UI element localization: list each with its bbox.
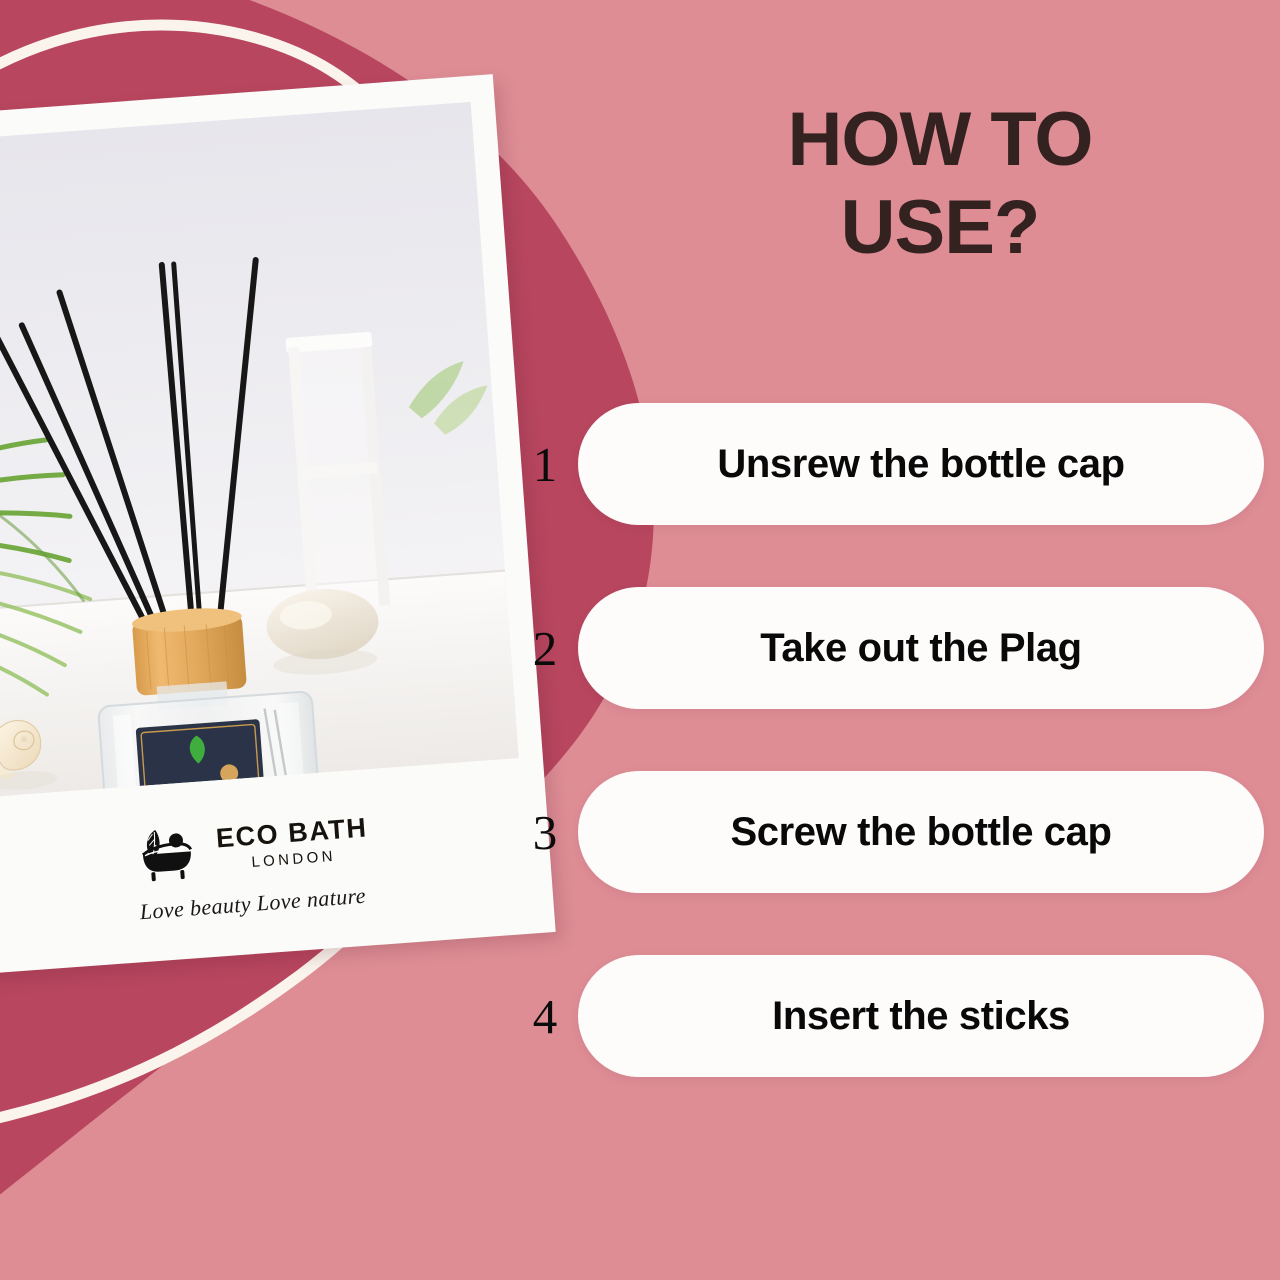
step-label: Screw the bottle cap	[731, 810, 1112, 855]
step-number: 1	[512, 440, 578, 489]
brand-lockup: ECO BATH LONDON	[127, 806, 371, 885]
polaroid-tagline: Love beauty Love nature	[139, 883, 367, 926]
step-pill[interactable]: Unsrew the bottle cap	[578, 403, 1264, 525]
product-photo: ECO BATH LONDON Peony REED DIFFUSER	[0, 102, 519, 799]
bathtub-leaf-logo-icon	[127, 819, 205, 886]
step-number: 3	[512, 808, 578, 857]
step-label: Take out the Plag	[760, 626, 1081, 671]
step-number: 4	[512, 992, 578, 1041]
step-pill[interactable]: Screw the bottle cap	[578, 771, 1264, 893]
step-pill[interactable]: Take out the Plag	[578, 587, 1264, 709]
page-title: HOW TO USE?	[640, 96, 1240, 272]
polaroid-card: ECO BATH LONDON Peony REED DIFFUSER	[0, 74, 556, 976]
step-label: Unsrew the bottle cap	[717, 442, 1124, 487]
page-title-line-2: USE?	[640, 184, 1240, 272]
step-item-2: 2 Take out the Plag	[512, 587, 1264, 709]
step-pill[interactable]: Insert the sticks	[578, 955, 1264, 1077]
step-item-1: 1 Unsrew the bottle cap	[512, 403, 1264, 525]
steps-list: 1 Unsrew the bottle cap 2 Take out the P…	[512, 403, 1264, 1077]
step-number: 2	[512, 624, 578, 673]
step-label: Insert the sticks	[772, 994, 1070, 1039]
product-photo-scene: ECO BATH LONDON Peony REED DIFFUSER	[0, 102, 519, 799]
page-title-line-1: HOW TO	[640, 96, 1240, 184]
polaroid-brand-sub: LONDON	[251, 848, 336, 869]
step-item-4: 4 Insert the sticks	[512, 955, 1264, 1077]
step-item-3: 3 Screw the bottle cap	[512, 771, 1264, 893]
cork-cap	[131, 605, 247, 696]
polaroid-brand-name: ECO BATH	[215, 814, 368, 852]
